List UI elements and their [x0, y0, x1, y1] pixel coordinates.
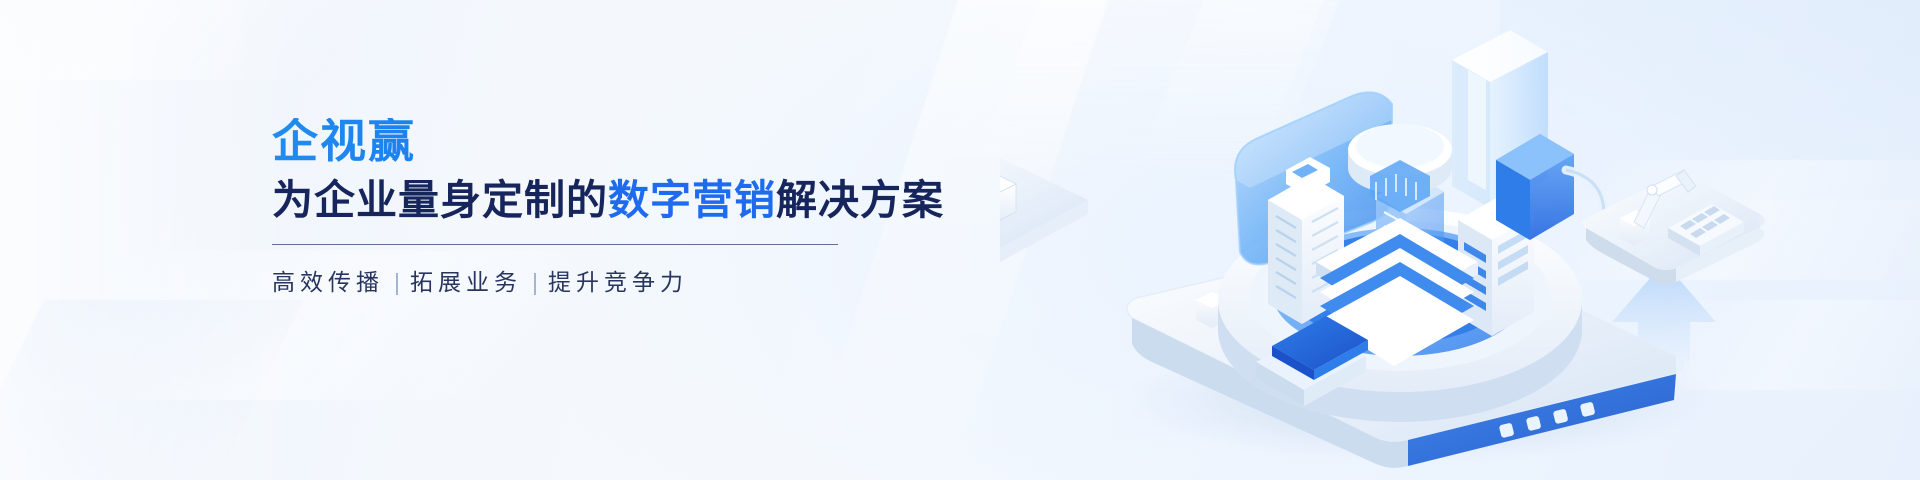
bg-edge-left	[0, 0, 300, 480]
tagline-separator-0: |	[394, 269, 400, 295]
tagline: 高效传播|拓展业务|提升竞争力	[272, 271, 892, 294]
building-pad	[1000, 150, 1088, 262]
tagline-item-0: 高效传播	[272, 269, 384, 295]
headline-divider	[272, 244, 838, 245]
tagline-item-2: 提升竞争力	[548, 269, 688, 295]
hero-illustration	[1000, 0, 1920, 480]
hero-banner: 企视赢 为企业量身定制的数字营销解决方案 高效传播|拓展业务|提升竞争力	[0, 0, 1920, 480]
headline-highlight: 数字营销	[608, 177, 776, 223]
tagline-separator-1: |	[532, 269, 538, 295]
robot-arm-pad	[1583, 170, 1765, 284]
headline-after: 解决方案	[776, 177, 944, 223]
bg-streak-1	[0, 0, 407, 80]
brand-title: 企视赢	[272, 118, 892, 164]
headline: 为企业量身定制的数字营销解决方案	[272, 178, 892, 224]
hero-copy: 企视赢 为企业量身定制的数字营销解决方案 高效传播|拓展业务|提升竞争力	[272, 118, 892, 294]
tagline-item-1: 拓展业务	[410, 269, 522, 295]
headline-before: 为企业量身定制的	[272, 177, 608, 223]
bg-tint-left	[0, 300, 304, 480]
